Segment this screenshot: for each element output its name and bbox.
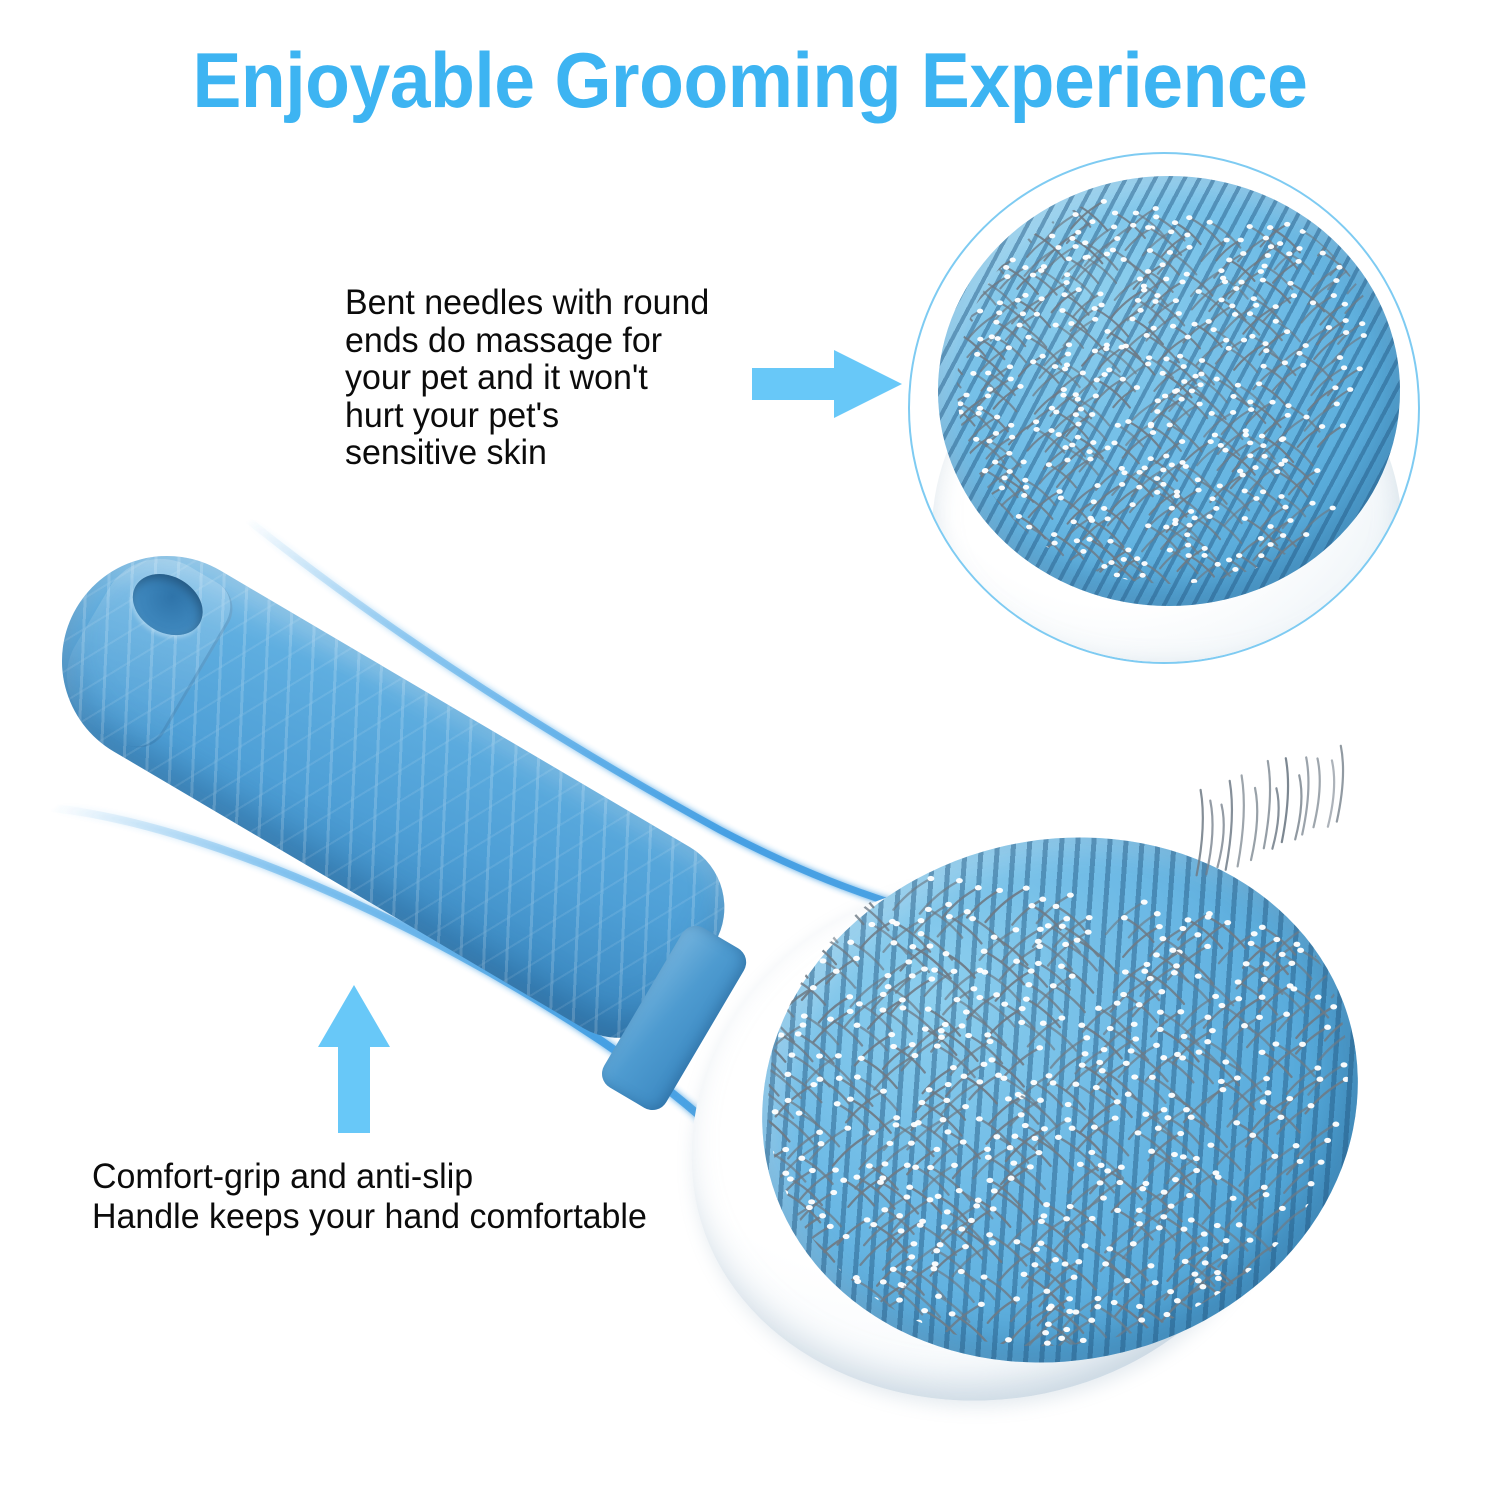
- brush-head-closeup-inset: [908, 152, 1420, 664]
- arrow-right-icon: [752, 348, 902, 420]
- page-title: Enjoyable Grooming Experience: [45, 34, 1455, 126]
- callout-comfort-grip-text: Comfort-grip and anti-slip Handle keeps …: [92, 1157, 647, 1237]
- brush-handle: [23, 517, 750, 1063]
- callout-bent-needles-text: Bent needles with round ends do massage …: [345, 284, 709, 472]
- arrow-up-icon: [318, 985, 390, 1133]
- closeup-needle-field: [910, 154, 1420, 664]
- product-infographic: Enjoyable Grooming Experience: [0, 0, 1500, 1500]
